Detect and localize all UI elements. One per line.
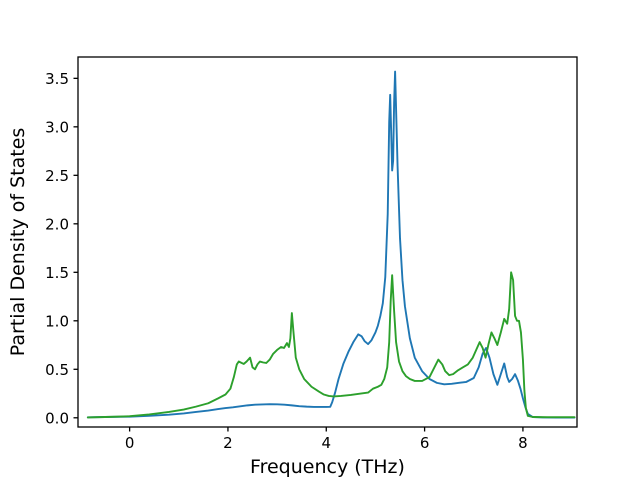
pdos-line-chart: 02468 0.00.51.01.52.02.53.03.5 Frequency… xyxy=(0,0,640,480)
y-tick-label: 0.5 xyxy=(45,361,69,379)
figure-background xyxy=(0,0,640,480)
y-tick-label: 1.0 xyxy=(45,312,69,330)
x-tick-label: 8 xyxy=(518,434,528,452)
x-axis-label: Frequency (THz) xyxy=(250,456,405,478)
x-tick-label: 4 xyxy=(321,434,331,452)
figure-canvas: 02468 0.00.51.01.52.02.53.03.5 Frequency… xyxy=(0,0,640,480)
y-tick-label: 2.0 xyxy=(45,215,69,233)
x-tick-label: 2 xyxy=(223,434,233,452)
y-tick-label: 2.5 xyxy=(45,167,69,185)
y-tick-label: 0.0 xyxy=(45,409,69,427)
y-axis-label: Partial Density of States xyxy=(7,128,29,357)
x-tick-label: 0 xyxy=(125,434,135,452)
y-tick-label: 1.5 xyxy=(45,264,69,282)
y-tick-label: 3.5 xyxy=(45,70,69,88)
y-tick-label: 3.0 xyxy=(45,118,69,136)
x-tick-label: 6 xyxy=(420,434,430,452)
